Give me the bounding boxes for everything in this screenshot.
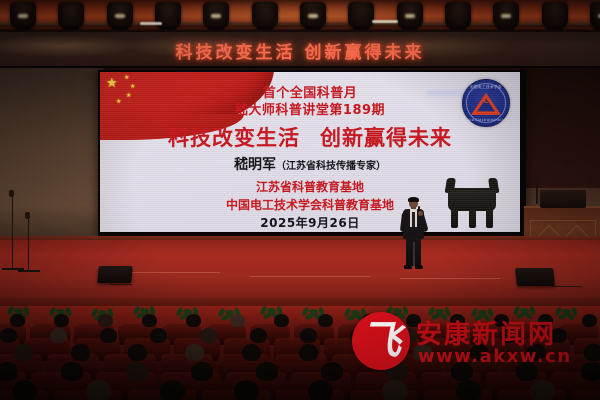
fluorescent-tube-2 <box>372 20 398 23</box>
stage-monitor-left <box>97 266 132 283</box>
slide-main-title-right: 创新赢得未来 <box>320 126 452 150</box>
audience-member <box>14 344 33 361</box>
auditorium-photo: 科技改变生活 创新赢得未来 ★ ★ ★ ★ ★ 中国电工技术学会 C China <box>0 0 600 400</box>
audience-member <box>61 362 83 381</box>
audience-member <box>230 314 245 327</box>
presenter-tie <box>412 212 415 227</box>
fluorescent-tube-1 <box>140 22 162 25</box>
spotlight-6 <box>252 2 278 29</box>
slide-speaker-line: 嵇明军（江苏省科技传播专家） <box>100 154 520 174</box>
stage-seam-3 <box>400 278 500 279</box>
audience-member <box>86 380 111 400</box>
audience-member <box>456 380 481 400</box>
mic-stand-pole-2 <box>28 218 29 270</box>
presenter-shoe-left <box>404 265 412 269</box>
spotlight-glow-1 <box>18 14 28 18</box>
spotlight-glow-3 <box>115 14 125 18</box>
audience-member <box>100 328 117 343</box>
led-banner: 科技改变生活 创新赢得未来 <box>0 30 600 68</box>
presenter-shoe-right <box>415 265 423 269</box>
audience-member <box>299 344 318 361</box>
audience-member <box>10 314 25 327</box>
audience-member <box>128 344 147 361</box>
spotlight-8 <box>348 2 374 29</box>
watermark-logo-glyph: 飞 <box>352 312 410 370</box>
slide-base-line1: 江苏省科普教育基地 <box>100 178 520 195</box>
slide-speaker-title: （江苏省科技传播专家） <box>276 161 386 172</box>
banner-slogan: 科技改变生活 创新赢得未来 <box>0 38 600 63</box>
audience-member <box>71 344 90 361</box>
presentation-slide: ★ ★ ★ ★ ★ 中国电工技术学会 C China Electrotechni… <box>100 72 520 232</box>
watermark: 飞 安康新闻网 www.akxw.cn <box>352 306 592 378</box>
slide-base-line2: 中国电工技术学会科普教育基地 <box>100 196 520 213</box>
wall-panel-left <box>0 68 104 240</box>
audience-member <box>250 328 267 343</box>
audience-member <box>242 344 261 361</box>
spotlight-glow-5 <box>211 14 221 18</box>
watermark-site-url: www.akxw.cn <box>418 346 572 367</box>
audience-member <box>160 380 185 400</box>
audience-member <box>530 380 555 400</box>
audience-member <box>308 380 333 400</box>
audience-member <box>185 344 204 361</box>
audience-member <box>142 314 157 327</box>
audience-member <box>234 380 259 400</box>
stage-monitor-right <box>515 268 555 286</box>
flag-star-1: ★ <box>124 73 129 82</box>
lectern-microphone <box>536 182 538 204</box>
spotlight-glow-7 <box>308 14 318 18</box>
projection-screen: ★ ★ ★ ★ ★ 中国电工技术学会 C China Electrotechni… <box>98 70 526 238</box>
spotlight-12 <box>542 2 568 29</box>
presenter-hand <box>418 211 423 216</box>
watermark-logo-circle: 飞 <box>352 312 410 370</box>
wall-dark-right <box>520 68 600 188</box>
mic-head-1 <box>9 190 14 197</box>
auditorium-seat <box>572 390 600 400</box>
stage-seam-1 <box>120 272 220 273</box>
audience-member <box>0 362 18 381</box>
spotlight-glow-9 <box>405 14 415 18</box>
slide-date: 2025年9月26日 <box>100 214 520 231</box>
audience-member <box>126 362 148 381</box>
slide-speaker-name: 嵇明军 <box>234 157 276 173</box>
mic-head-2 <box>25 212 30 219</box>
lectern-equipment <box>540 190 586 208</box>
monitor-cable-left <box>110 284 132 285</box>
stage-seam-2 <box>250 276 370 277</box>
audience-member <box>318 314 333 327</box>
mic-stand-pole-1 <box>12 196 13 268</box>
audience-member <box>191 362 213 381</box>
audience-member <box>54 314 69 327</box>
presenter <box>398 198 428 272</box>
audience-member <box>0 328 17 343</box>
slide-heading-line2: 嵇大师科普讲堂第189期 <box>100 99 520 118</box>
audience-member <box>300 328 317 343</box>
presenter-leg-split <box>413 242 415 266</box>
stage-light-sheen <box>0 240 600 306</box>
audience-member <box>200 328 217 343</box>
spotlight-10 <box>445 2 471 29</box>
audience-member <box>50 328 67 343</box>
spotlight-glow-11 <box>501 14 511 18</box>
audience-member <box>256 362 278 381</box>
presenter-hair <box>408 197 419 202</box>
audience-member <box>382 380 407 400</box>
spotlight-2 <box>58 2 84 29</box>
slide-main-title: 科技改变生活创新赢得未来 <box>100 122 520 152</box>
slide-main-title-left: 科技改变生活 <box>168 126 300 150</box>
audience-member <box>321 362 343 381</box>
audience-member <box>186 314 201 327</box>
monitor-cable-right <box>552 286 582 287</box>
audience-member <box>274 314 289 327</box>
audience-member <box>98 314 113 327</box>
audience-member <box>12 380 37 400</box>
mic-stand-base-2 <box>18 270 40 272</box>
audience-member <box>150 328 167 343</box>
